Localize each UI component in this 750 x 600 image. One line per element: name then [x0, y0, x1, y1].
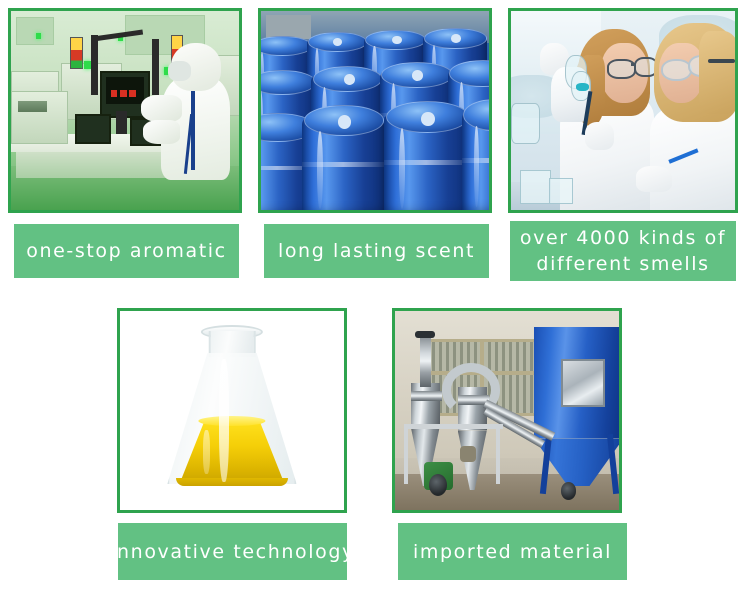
photo-frame-one-stop[interactable]: [8, 8, 242, 213]
photo-industrial-spray-dryer: [395, 311, 619, 510]
caption-line: different smells: [536, 251, 709, 277]
caption-line: over 4000 kinds of: [520, 225, 726, 251]
caption-imported: imported material: [398, 523, 627, 580]
caption-innovative: innovative technology: [118, 523, 347, 580]
photo-frame-over-4000[interactable]: [508, 8, 738, 213]
feature-collage-board: one-stop aromatic: [0, 0, 750, 600]
photo-laboratory-production-line: [11, 11, 239, 210]
photo-scientists-in-lab: [511, 11, 735, 210]
caption-one-stop: one-stop aromatic: [14, 224, 239, 278]
photo-frame-innovative[interactable]: [117, 308, 347, 513]
caption-line: long lasting scent: [278, 238, 475, 264]
caption-line: innovative technology: [110, 539, 355, 565]
caption-line: one-stop aromatic: [26, 238, 226, 264]
photo-frame-imported[interactable]: [392, 308, 622, 513]
photo-frame-long-lasting[interactable]: [258, 8, 492, 213]
photo-blue-chemical-drums: [261, 11, 489, 210]
caption-line: imported material: [413, 539, 612, 565]
caption-long-lasting: long lasting scent: [264, 224, 489, 278]
photo-erlenmeyer-flask-yellow-liquid: [120, 311, 344, 510]
caption-over-4000: over 4000 kinds of different smells: [510, 221, 736, 281]
